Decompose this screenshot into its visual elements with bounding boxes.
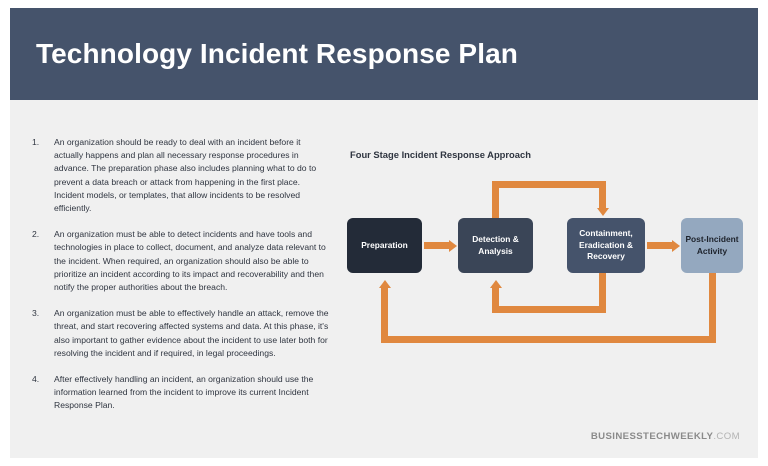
slide-canvas: Technology Incident Response Plan 1. An … [10,8,758,458]
list-item-text: After effectively handling an incident, … [54,373,332,413]
flow-diagram: Four Stage Incident Response Approach [345,136,745,396]
arrowhead-right-to-post-incident [672,240,680,252]
arrowhead-right-to-detection [449,240,457,252]
list-item: 1. An organization should be ready to de… [32,136,332,215]
diagram-node-label: Containment, Eradication & Recovery [569,228,643,263]
footer-tld: .COM [713,431,740,442]
list-item: 4. After effectively handling an inciden… [32,373,332,413]
connector-post-incident-down [709,273,716,343]
diagram-node-containment[interactable]: Containment, Eradication & Recovery [567,218,645,273]
arrowhead-down-to-containment [597,208,609,216]
list-item: 3. An organization must be able to effec… [32,307,332,360]
list-item: 2. An organization must be able to detec… [32,228,332,294]
connector-down-to-containment [599,181,606,209]
diagram-node-post-incident[interactable]: Post-Incident Activity [681,218,743,273]
list-item-text: An organization must be able to effectiv… [54,307,332,360]
page-title: Technology Incident Response Plan [36,38,518,70]
diagram-stage: Preparation Detection & Analysis Contain… [345,168,745,388]
footer-brand: BUSINESSTECHWEEKLY [591,431,714,442]
page-root: Technology Incident Response Plan 1. An … [0,0,768,466]
connector-bottom-outer-horizontal [381,336,716,343]
arrowhead-up-to-detection [490,280,502,288]
connector-bottom-inner-horizontal [492,306,606,313]
diagram-node-label: Preparation [361,240,408,252]
header-bar: Technology Incident Response Plan [10,8,758,100]
list-item-number: 1. [32,136,54,149]
connector-up-to-detection [492,288,499,313]
footer-watermark: BUSINESSTECHWEEKLY.COM [591,431,740,442]
diagram-node-detection[interactable]: Detection & Analysis [458,218,533,273]
diagram-node-label: Detection & Analysis [460,234,531,257]
connector-containment-to-post-incident [647,242,673,249]
arrowhead-up-to-preparation [379,280,391,288]
diagram-subtitle: Four Stage Incident Response Approach [350,149,531,160]
list-item-number: 4. [32,373,54,386]
list-item-number: 2. [32,228,54,241]
list-item-text: An organization should be ready to deal … [54,136,332,215]
connector-preparation-to-detection [424,242,450,249]
list-item-text: An organization must be able to detect i… [54,228,332,294]
list-item-number: 3. [32,307,54,320]
diagram-node-label: Post-Incident Activity [683,234,741,257]
connector-top-horizontal [492,181,606,188]
numbered-list: 1. An organization should be ready to de… [32,136,332,426]
diagram-node-preparation[interactable]: Preparation [347,218,422,273]
connector-up-to-preparation [381,288,388,343]
